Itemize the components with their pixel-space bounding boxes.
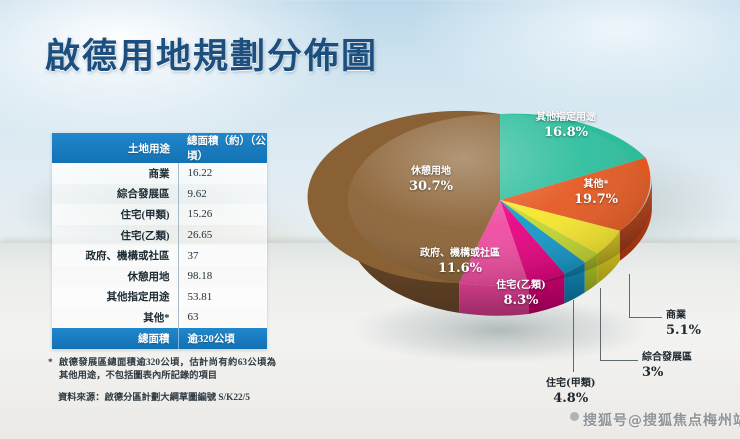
column-header-land-use: 土地用途 [52,133,178,163]
cell-area: 15.26 [178,204,267,225]
page-title: 啟德用地規劃分佈圖 [45,28,378,79]
cell-total-value: 逾320公頃 [178,328,267,349]
cell-land-use: 綜合發展區 [52,184,178,205]
cell-land-use: 政府、機構或社區 [52,245,178,266]
table-row: 休憩用地 98.18 [52,266,267,287]
pie-chart: 休憩用地 30.7% 其他指定用途 16.8% 其他* 19.7% 政府、機構或… [338,52,668,372]
leader-line-residential-a-vertical [573,300,574,372]
leader-line-commercial-horizontal [629,317,662,318]
cell-land-use: 住宅(甲類) [52,204,178,225]
table-row: 其他* 63 [52,307,267,328]
cell-land-use: 商業 [52,163,178,184]
leader-line-cda-horizontal [600,360,638,361]
cell-area: 53.81 [178,287,267,308]
cell-area: 26.65 [178,225,267,246]
table-body: 商業 16.22 綜合發展區 9.62 住宅(甲類) 15.26 住宅(乙類) … [52,163,267,328]
footnote-marker: * [48,357,53,370]
cell-area: 98.18 [178,266,267,287]
footnote-text: 啟德發展區總面積逾320公頃，估計尚有約63公頃為其他用途，不包括圖表內所記錄的… [48,357,276,383]
slice-label-open-space: 休憩用地 30.7% [356,166,506,195]
cell-land-use: 休憩用地 [52,266,178,287]
column-header-total-area: 總面積（約）（公頃） [178,133,267,163]
table-total-row: 總面積 逾320公頃 [52,328,267,349]
cell-total-label: 總面積 [52,328,178,349]
land-use-table: 土地用途 總面積（約）（公頃） 商業 16.22 綜合發展區 9.62 住宅(甲… [52,133,267,349]
footnote: * 啟德發展區總面積逾320公頃，估計尚有約63公頃為其他用途，不包括圖表內所記… [48,357,276,383]
cell-land-use: 其他指定用途 [52,287,178,308]
callout-residential-a: 住宅(甲類) 4.8% [546,378,595,407]
cell-area: 9.62 [178,184,267,205]
callout-comprehensive-development: 綜合發展區 3% [642,352,692,381]
watermark: 搜狐号@搜狐焦点梅州站 [583,410,740,430]
leader-line-commercial-vertical [629,274,630,318]
cell-area: 16.22 [178,163,267,184]
cell-area: 37 [178,245,267,266]
cell-area: 63 [178,307,267,328]
leader-line-cdа-vertical [600,288,601,361]
slice-label-others: 其他* 19.7% [546,179,646,208]
cell-land-use: 住宅(乙類) [52,225,178,246]
pie-chart-svg [338,52,668,372]
table-row: 住宅(乙類) 26.65 [52,225,267,246]
cell-land-use: 其他* [52,307,178,328]
table-row: 綜合發展區 9.62 [52,184,267,205]
callout-commercial: 商業 5.1% [666,310,701,339]
table-row: 住宅(甲類) 15.26 [52,204,267,225]
source-note: 資料來源：啟德分區計劃大綱草圖編號 S/K22/5 [58,392,288,405]
slice-label-other-designated: 其他指定用途 16.8% [496,112,636,141]
slice-label-gic: 政府、機構或社區 11.6% [380,248,540,277]
watermark-dot-icon [570,412,579,421]
table-footer: 總面積 逾320公頃 [52,328,267,349]
table-header: 土地用途 總面積（約）（公頃） [52,133,267,163]
slice-label-residential-b: 住宅(乙類) 8.3% [466,280,576,309]
table-header-row: 土地用途 總面積（約）（公頃） [52,133,267,163]
table-row: 商業 16.22 [52,163,267,184]
table-row: 其他指定用途 53.81 [52,287,267,308]
table-row: 政府、機構或社區 37 [52,245,267,266]
